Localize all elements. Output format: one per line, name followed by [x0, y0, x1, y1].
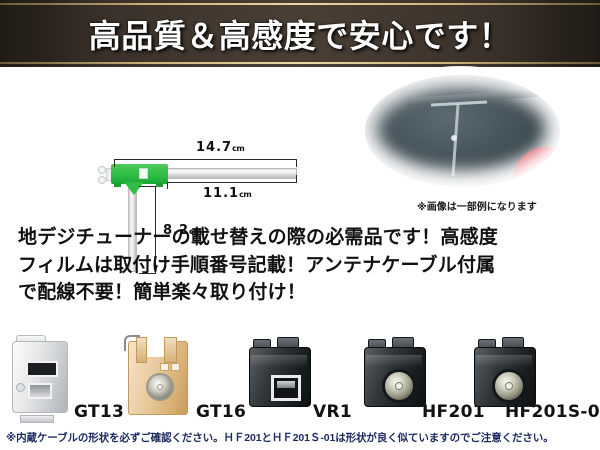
footer-disclaimer: ※内蔵ケーブルの形状を必ずご確認ください。ＨＦ201とＨＦ201Ｓ-01は形状が…	[6, 430, 600, 445]
product-description-image: 高品質＆高感度で安心です！ 14.7cm 11.1cm 8.2cm	[0, 0, 600, 450]
description-line-2: フィルムは取付け手順番号記載！アンテナケーブル付属	[18, 252, 584, 280]
antenna-green-taper	[124, 182, 144, 195]
hf201-center-pin	[395, 382, 403, 390]
hf201s-highlight	[476, 355, 532, 367]
dimension-unit-total-width: cm	[232, 144, 244, 153]
vr1-pin	[277, 381, 295, 388]
hf201s-center-pin	[505, 382, 513, 390]
dimension-tick-inner-left	[167, 182, 168, 189]
dimension-value-total-width: 14.7	[196, 140, 232, 155]
dimension-line-inner-width	[167, 182, 297, 183]
gt16-arm-right	[164, 337, 177, 363]
connector-label-vr1: VR1	[313, 402, 352, 422]
dimension-tick-total-left	[114, 159, 115, 167]
antenna-green-tab-left	[114, 183, 121, 187]
product-description-text: 地デジチューナーの載せ替えの際の必需品です！高感度 フィルムは取付け手順番号記載…	[18, 224, 584, 307]
dimension-tick-total-right	[296, 159, 297, 167]
antenna-chip-marker	[139, 168, 148, 179]
antenna-green-tab-right	[156, 183, 163, 187]
banner-title: 高品質＆高感度で安心です！	[0, 0, 600, 67]
gt16-slot-2	[171, 363, 180, 371]
gt13-foot	[20, 415, 54, 423]
dimension-value-inner-width: 11.1	[203, 186, 239, 201]
dimension-line-total-width	[114, 159, 297, 160]
photo-vignette	[353, 66, 568, 190]
connector-type-row: GT13 GT16 VR1	[0, 333, 600, 425]
gt13-secondary-port	[28, 383, 52, 399]
description-line-1: 地デジチューナーの載せ替えの際の必需品です！高感度	[18, 224, 584, 252]
dimension-tick-leg-top	[139, 186, 156, 187]
connector-label-hf201s-01: HF201S-01	[505, 402, 600, 422]
connector-label-gt13: GT13	[74, 402, 124, 422]
connector-vr1	[245, 333, 317, 425]
connector-gt16	[120, 333, 198, 425]
gt13-port	[26, 361, 58, 377]
header-banner: 高品質＆高感度で安心です！	[0, 0, 600, 67]
connector-gt13	[8, 333, 78, 425]
dimension-label-inner-width: 11.1cm	[203, 186, 251, 201]
antenna-dimension-diagram: 14.7cm 11.1cm 8.2cm	[0, 67, 330, 217]
antenna-contact-upper-icon	[98, 166, 106, 174]
gt16-center-pin	[157, 384, 163, 390]
gt13-side-dot-icon	[16, 383, 25, 392]
dimension-label-total-width: 14.7cm	[196, 140, 244, 155]
installed-antenna-photo: 9 10 ※画像は一部例になります	[345, 70, 590, 195]
gt16-slot-1	[160, 363, 169, 371]
gt13-body	[12, 341, 68, 413]
antenna-contact-lower-icon	[98, 176, 106, 184]
vr1-port	[271, 375, 301, 401]
gt16-arm-left	[136, 337, 147, 363]
dimension-tick-inner-right	[296, 175, 297, 182]
hf201-highlight	[366, 355, 422, 367]
connector-label-gt16: GT16	[196, 402, 246, 422]
dimension-unit-inner-width: cm	[239, 190, 251, 199]
photo-disclaimer-note: ※画像は一部例になります	[417, 198, 537, 213]
description-line-3: で配線不要！簡単楽々取り付け！	[18, 279, 584, 307]
vr1-highlight	[251, 355, 307, 367]
